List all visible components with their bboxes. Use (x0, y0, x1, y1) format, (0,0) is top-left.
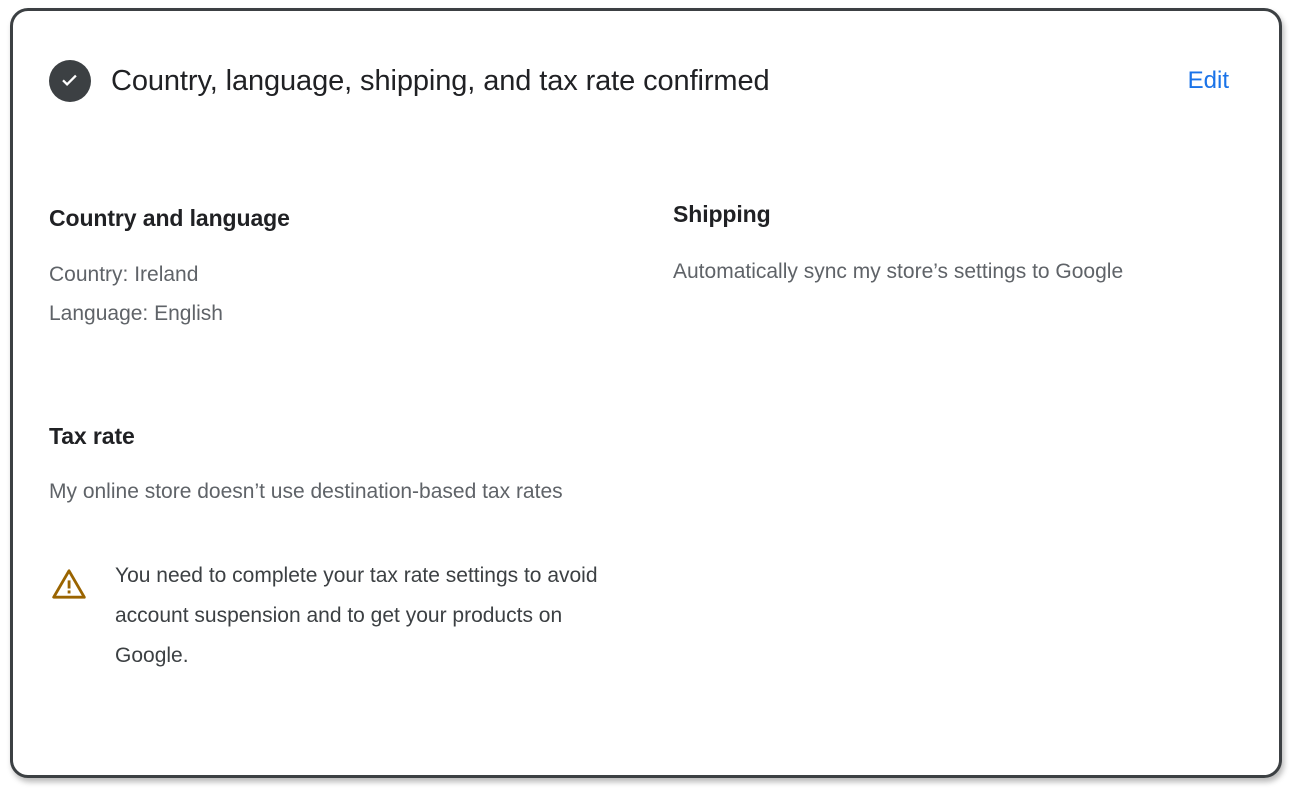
check-circle-icon (49, 60, 91, 102)
language-value: Language: English (49, 294, 569, 333)
country-value: Country: Ireland (49, 255, 569, 294)
section-shipping: Shipping Automatically sync my store’s s… (673, 199, 1233, 292)
section-heading-tax-rate: Tax rate (49, 421, 629, 451)
section-tax-rate: Tax rate My online store doesn’t use des… (49, 421, 629, 676)
page-title: Country, language, shipping, and tax rat… (111, 63, 1160, 99)
card-header: Country, language, shipping, and tax rat… (13, 11, 1279, 151)
warning-message: You need to complete your tax rate setti… (115, 556, 615, 676)
section-country-and-language: Country and language Country: Ireland La… (49, 203, 629, 333)
section-heading-country-and-language: Country and language (49, 203, 629, 233)
tax-rate-value: My online store doesn’t use destination-… (49, 471, 579, 512)
right-column: Shipping Automatically sync my store’s s… (673, 199, 1233, 292)
shipping-value: Automatically sync my store’s settings t… (673, 251, 1203, 292)
left-column: Country and language Country: Ireland La… (49, 203, 629, 676)
edit-link[interactable]: Edit (1184, 64, 1233, 98)
section-divider-spacer (49, 333, 629, 421)
confirmation-card: Country, language, shipping, and tax rat… (10, 8, 1282, 778)
screenshot-root: Country, language, shipping, and tax rat… (0, 0, 1296, 800)
section-heading-shipping: Shipping (673, 199, 1233, 229)
card-body: Country and language Country: Ireland La… (13, 151, 1279, 775)
warning-triangle-icon (51, 566, 87, 602)
tax-rate-warning: You need to complete your tax rate setti… (49, 556, 629, 676)
